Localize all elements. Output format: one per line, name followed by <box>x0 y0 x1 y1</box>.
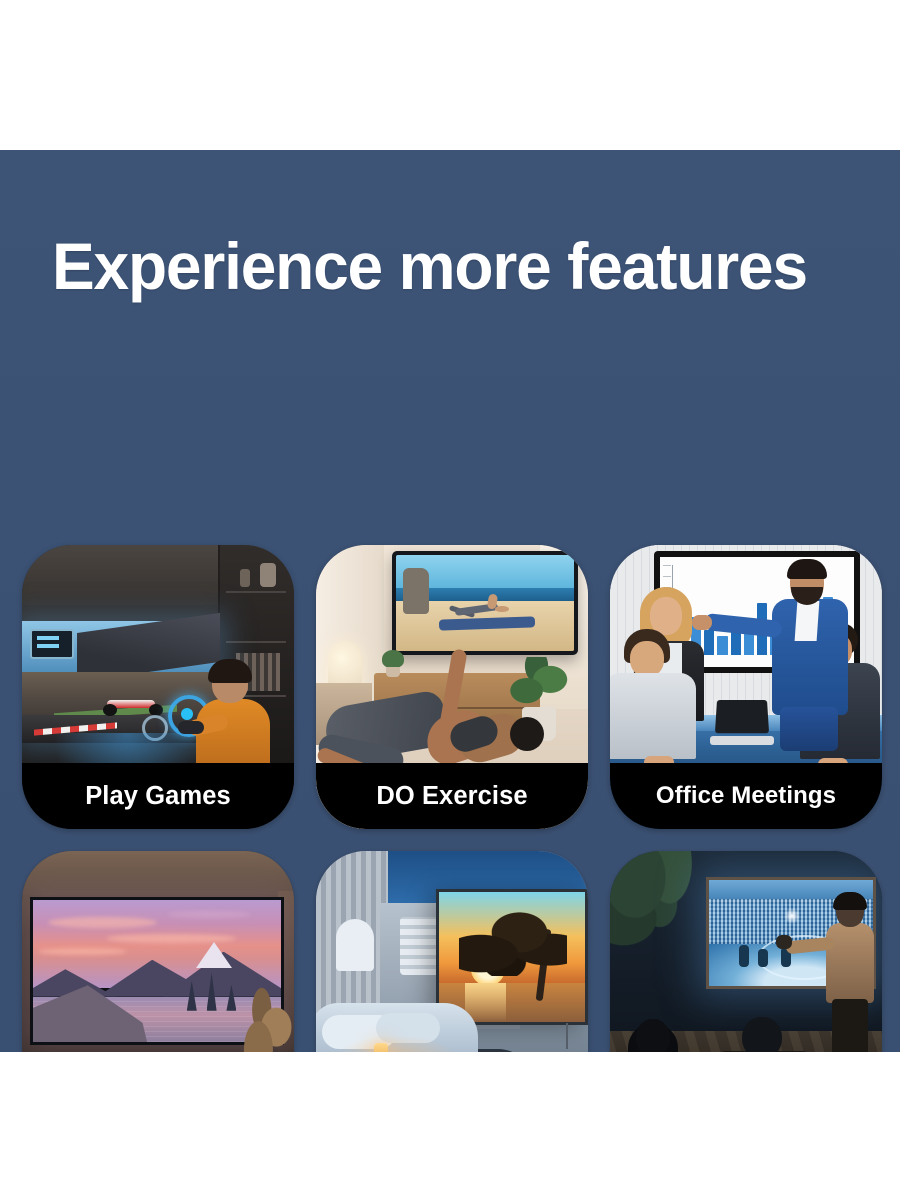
chart-bar <box>744 633 754 655</box>
seated-person-center <box>718 1017 804 1052</box>
small-plant <box>380 651 406 677</box>
attendee-seated-left <box>610 629 700 759</box>
screen-content <box>396 555 574 651</box>
feature-card-grid: Play Games <box>22 545 882 1052</box>
laptop <box>710 699 774 745</box>
standing-person <box>820 895 876 1052</box>
screen-content <box>439 892 585 1022</box>
feature-card-office-meetings[interactable]: Office Meetings <box>610 545 882 829</box>
screen-leg <box>566 1023 568 1049</box>
scene-private-cinema <box>316 851 588 1052</box>
card-label-band: Office Meetings <box>610 763 882 829</box>
feature-card-play-games[interactable]: Play Games <box>22 545 294 829</box>
player <box>758 949 768 967</box>
race-car <box>101 698 165 716</box>
chart-bar <box>704 630 714 655</box>
foliage <box>610 851 706 971</box>
card-label: Office Meetings <box>656 782 836 810</box>
wall-lamp <box>336 919 374 971</box>
screen-yoga-person <box>449 593 520 624</box>
candle <box>374 1043 388 1052</box>
seated-person-left <box>612 1019 690 1052</box>
scene-bedtime-story <box>22 851 294 1052</box>
stadium-light <box>784 908 800 924</box>
screen-rock <box>403 568 429 614</box>
page-title: Experience more features <box>52 228 847 304</box>
feature-card-private-cinema[interactable]: Private Cinema <box>316 851 588 1052</box>
card-label: Play Games <box>85 782 231 811</box>
feature-card-bedtime-story[interactable]: Bedtime Story <box>22 851 294 1052</box>
vase-decor <box>260 563 276 587</box>
vase-decor-small <box>240 569 250 587</box>
wall-screen-beach-yoga <box>392 551 578 655</box>
foreground-plant <box>236 983 292 1052</box>
feature-showcase-page: Play Games <box>0 0 900 1200</box>
projection-screen-tropical <box>436 889 588 1025</box>
card-label-band: Play Games <box>22 763 294 829</box>
game-controller <box>178 721 204 734</box>
card-label: DO Exercise <box>376 782 527 811</box>
player <box>739 945 749 967</box>
cloud <box>107 934 236 943</box>
feature-card-do-exercise[interactable]: DO Exercise <box>316 545 588 829</box>
ceiling <box>22 851 294 895</box>
card-label-band: DO Exercise <box>316 763 588 829</box>
chart-bar <box>717 636 727 655</box>
game-scoreboard <box>30 629 74 659</box>
feature-card-outdoor-viewing[interactable]: Outdoor viewing <box>610 851 882 1052</box>
scene-outdoor-viewing <box>610 851 882 1052</box>
palm-fronds <box>459 910 567 976</box>
presenter-person <box>760 563 856 749</box>
